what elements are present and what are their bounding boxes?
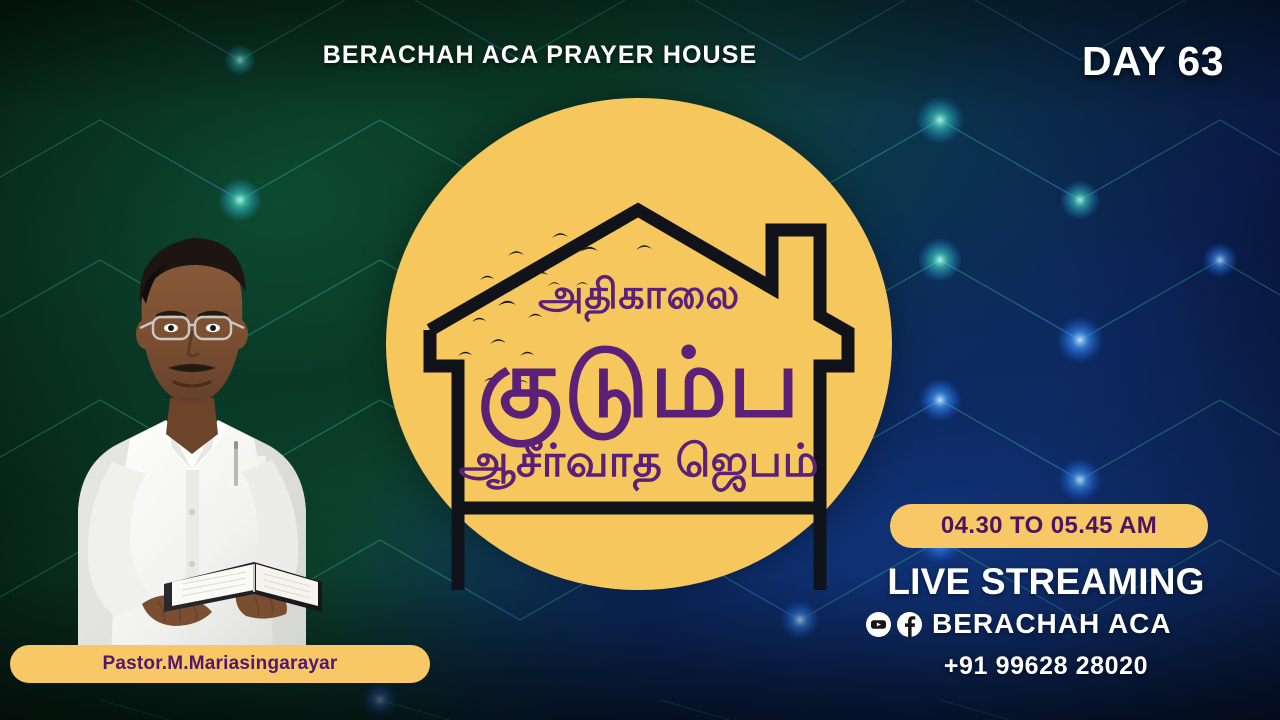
logo-tamil-line-2: குடும்ப (386, 336, 892, 432)
speaker-name-badge: Pastor.M.Mariasingarayar (10, 645, 430, 683)
broadcast-time-label: 04.30 TO 05.45 AM (941, 512, 1157, 540)
youtube-icon[interactable] (866, 612, 891, 637)
broadcast-time-badge: 04.30 TO 05.45 AM (890, 504, 1208, 548)
channel-name-label: BERACHAH ACA (932, 608, 1172, 640)
logo-tamil-line-3: ஆசீர்வாத ஜெபம் (386, 438, 892, 483)
day-counter: DAY 63 (1082, 38, 1224, 85)
speaker-name-label: Pastor.M.Mariasingarayar (102, 653, 337, 675)
logo-tamil-line-1: அதிகாலை (386, 274, 892, 315)
facebook-icon[interactable] (897, 612, 922, 637)
contact-phone-label: +91 99628 28020 (872, 652, 1220, 681)
social-channel-row: BERACHAH ACA (866, 608, 1226, 640)
live-stream-banner: BERACHAH ACA PRAYER HOUSE DAY 63 (0, 0, 1280, 720)
live-streaming-label: LIVE STREAMING (872, 561, 1220, 603)
pastor-portrait (22, 212, 362, 674)
prayer-house-logo: அதிகாலை குடும்ப ஆசீர்வாத ஜெபம் (386, 98, 892, 590)
